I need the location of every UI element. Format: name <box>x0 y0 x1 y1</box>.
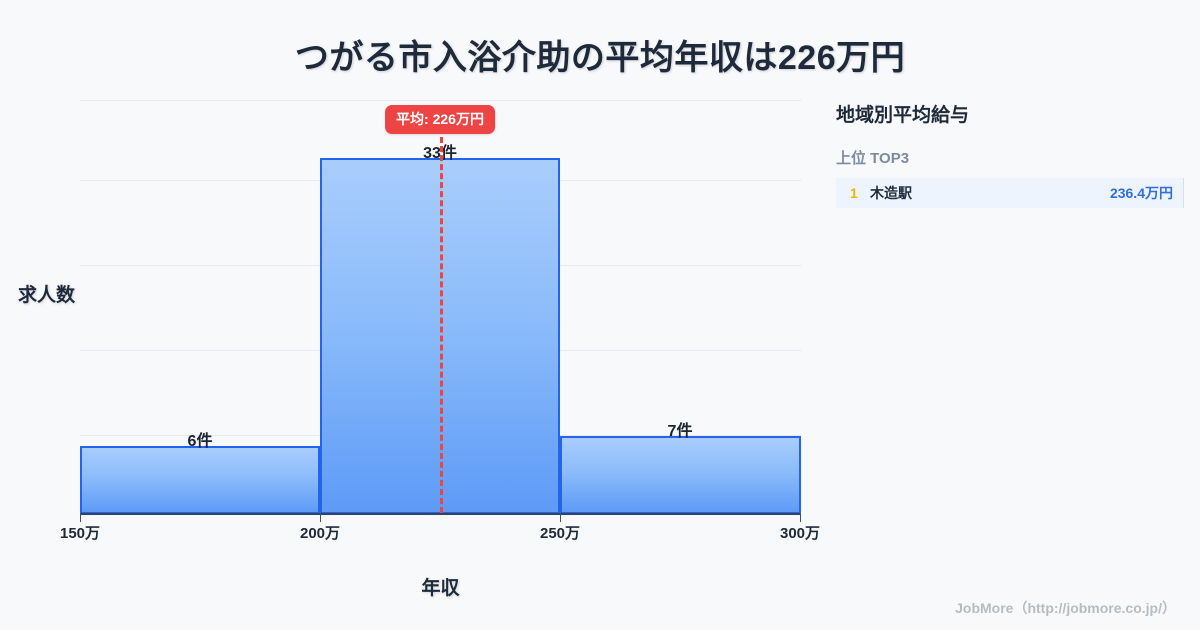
bar-value-label: 6件 <box>188 427 213 451</box>
rank-number: 1 <box>850 185 870 201</box>
rank-name: 木造駅 <box>870 183 1110 203</box>
regional-salary-panel: 地域別平均給与 上位 TOP3 1 木造駅 236.4万円 <box>836 100 1184 208</box>
x-tick-mark <box>800 513 801 522</box>
x-tick-label: 150万 <box>60 522 100 543</box>
histogram-chart: 6件 33件 7件 平均: 226万円 150万 200万 250万 300万 … <box>0 0 830 630</box>
average-badge: 平均: 226万円 <box>385 105 495 134</box>
gridline <box>80 100 801 101</box>
bar-value-label: 7件 <box>668 417 693 441</box>
x-tick-label: 250万 <box>540 522 580 543</box>
panel-subtitle: 上位 TOP3 <box>836 147 1184 168</box>
x-tick-mark <box>560 513 561 522</box>
x-tick-mark <box>320 513 321 522</box>
list-item[interactable]: 1 木造駅 236.4万円 <box>836 178 1184 208</box>
x-axis-line <box>80 513 801 515</box>
bar-bin-1[interactable] <box>80 446 320 514</box>
average-line <box>440 128 443 513</box>
x-tick-label: 300万 <box>780 522 820 543</box>
panel-title: 地域別平均給与 <box>836 100 1184 127</box>
y-axis-title: 求人数 <box>18 280 75 307</box>
x-tick-label: 200万 <box>300 522 340 543</box>
bar-bin-3[interactable] <box>560 436 801 514</box>
x-tick-mark <box>80 513 81 522</box>
footer-watermark: JobMore（http://jobmore.co.jp/） <box>955 598 1176 618</box>
x-axis-title: 年収 <box>80 573 801 600</box>
rank-value: 236.4万円 <box>1110 183 1173 203</box>
